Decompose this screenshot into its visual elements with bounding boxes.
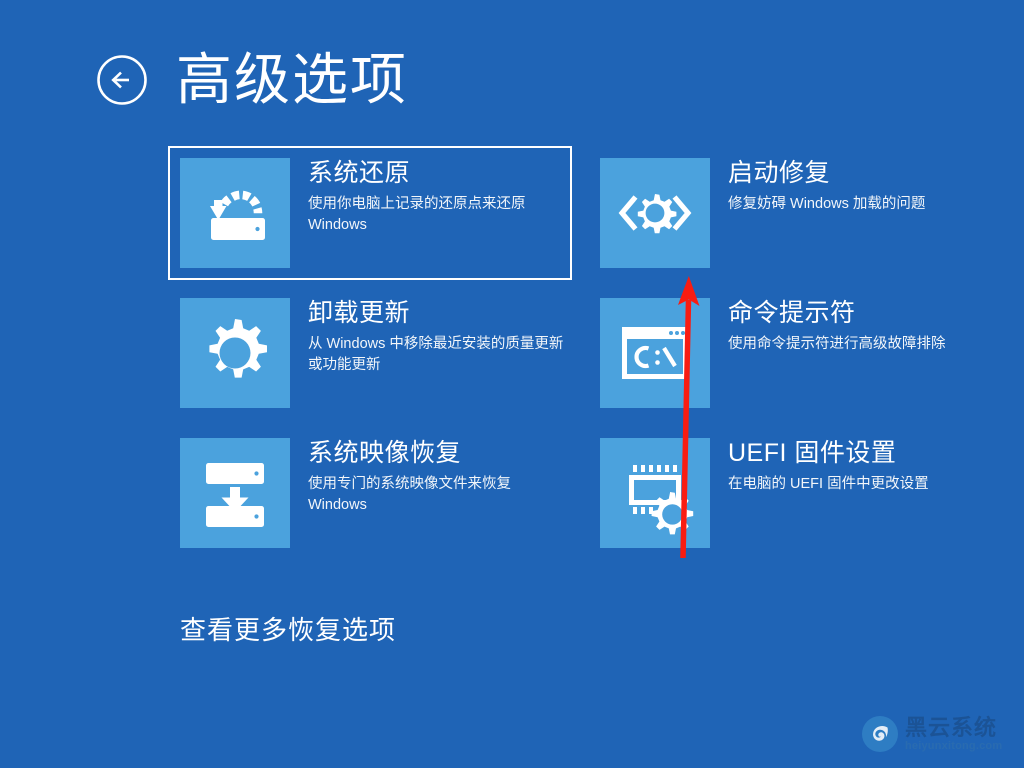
swirl-logo-icon: [862, 716, 898, 752]
command-prompt-window-icon: [600, 298, 710, 408]
uefi-firmware-chip-gear-icon: [600, 438, 710, 548]
option-title: 启动修复: [728, 160, 925, 188]
option-description: 使用命令提示符进行高级故障排除: [728, 334, 946, 355]
see-more-recovery-options-link[interactable]: 查看更多恢复选项: [180, 610, 396, 647]
option-title: 命令提示符: [728, 300, 946, 328]
page-title: 高级选项: [176, 52, 408, 108]
system-image-recovery-icon: [180, 438, 290, 548]
option-tile-uefi-firmware-settings[interactable]: UEFI 固件设置 在电脑的 UEFI 固件中更改设置: [600, 438, 1000, 548]
watermark-text: 黑云系统 heiyunxitong.com: [905, 717, 1002, 752]
option-title: 系统还原: [308, 160, 570, 188]
options-column-right: 启动修复 修复妨碍 Windows 加载的问题: [600, 158, 1000, 578]
option-description: 从 Windows 中移除最近安装的质量更新或功能更新: [308, 334, 570, 376]
system-restore-disk-icon: [180, 158, 290, 268]
option-description: 修复妨碍 Windows 加载的问题: [728, 194, 925, 215]
back-arrow-circle-icon[interactable]: [96, 54, 148, 106]
gear-icon: [180, 298, 290, 408]
watermark-url: heiyunxitong.com: [905, 741, 1002, 752]
option-description: 使用你电脑上记录的还原点来还原 Windows: [308, 194, 570, 236]
option-title: UEFI 固件设置: [728, 440, 929, 468]
option-title: 卸载更新: [308, 300, 570, 328]
option-tile-text: 系统映像恢复 使用专门的系统映像文件来恢复 Windows: [308, 438, 570, 516]
option-title: 系统映像恢复: [308, 440, 570, 468]
option-tile-text: 系统还原 使用你电脑上记录的还原点来还原 Windows: [308, 158, 570, 236]
option-description: 在电脑的 UEFI 固件中更改设置: [728, 474, 929, 495]
option-tile-text: UEFI 固件设置 在电脑的 UEFI 固件中更改设置: [728, 438, 929, 495]
option-tile-system-image-recovery[interactable]: 系统映像恢复 使用专门的系统映像文件来恢复 Windows: [180, 438, 580, 548]
option-tile-uninstall-updates[interactable]: 卸载更新 从 Windows 中移除最近安装的质量更新或功能更新: [180, 298, 580, 408]
option-tile-command-prompt[interactable]: 命令提示符 使用命令提示符进行高级故障排除: [600, 298, 1000, 408]
startup-repair-brackets-gear-icon: [600, 158, 710, 268]
option-tile-text: 命令提示符 使用命令提示符进行高级故障排除: [728, 298, 946, 355]
option-tile-system-restore[interactable]: 系统还原 使用你电脑上记录的还原点来还原 Windows: [180, 158, 580, 268]
option-tile-startup-repair[interactable]: 启动修复 修复妨碍 Windows 加载的问题: [600, 158, 1000, 268]
watermark-name: 黑云系统: [905, 717, 1002, 739]
option-description: 使用专门的系统映像文件来恢复 Windows: [308, 474, 570, 516]
option-tile-text: 卸载更新 从 Windows 中移除最近安装的质量更新或功能更新: [308, 298, 570, 376]
options-column-left: 系统还原 使用你电脑上记录的还原点来还原 Windows 卸载更新 从: [180, 158, 580, 578]
page-header: 高级选项: [96, 44, 408, 116]
site-watermark: 黑云系统 heiyunxitong.com: [862, 716, 1002, 752]
advanced-options-screen: 高级选项: [0, 0, 1024, 768]
option-tile-text: 启动修复 修复妨碍 Windows 加载的问题: [728, 158, 925, 215]
